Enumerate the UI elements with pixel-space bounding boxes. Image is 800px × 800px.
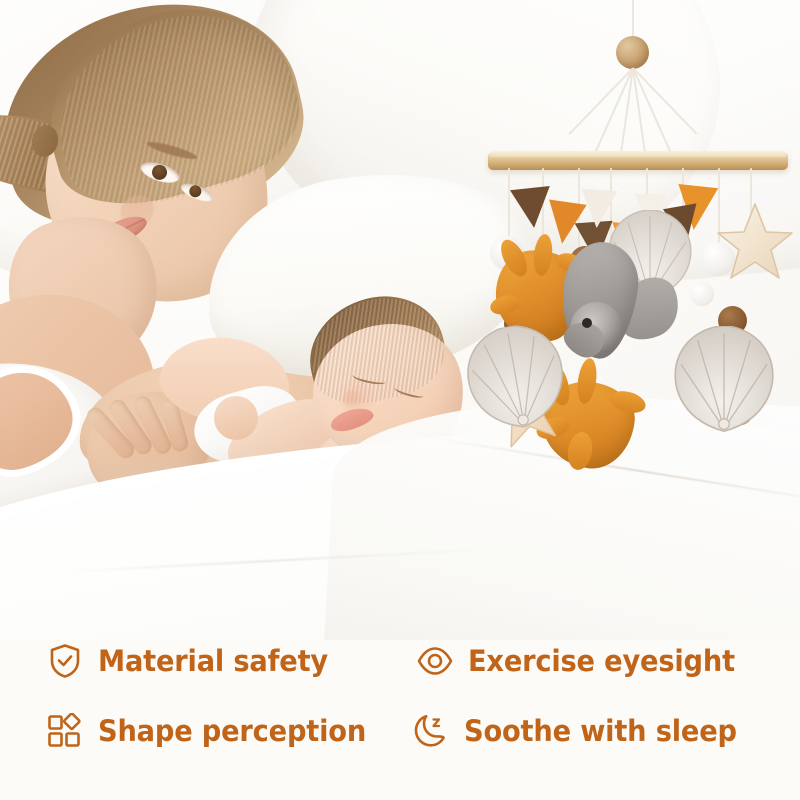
shapes-icon <box>46 712 84 750</box>
mobile-hoop-highlight <box>490 151 786 157</box>
felt-shell <box>666 326 782 436</box>
baby-nose <box>342 390 364 410</box>
feature-exercise-eyesight[interactable]: Exercise eyesight <box>416 642 752 680</box>
baby-mobile <box>450 10 800 480</box>
feature-label: Shape perception <box>98 717 366 746</box>
mobile-top-cord <box>632 0 634 40</box>
mobile-suspension-cord <box>632 67 697 134</box>
feature-list: Material safety Exercise eyesight <box>0 628 800 800</box>
product-image-canvas: Material safety Exercise eyesight <box>0 0 800 800</box>
felt-whale <box>562 242 666 362</box>
baby-left-fist <box>214 396 258 440</box>
shield-check-icon <box>46 642 84 680</box>
feature-label: Material safety <box>98 647 328 676</box>
eye-icon <box>416 642 454 680</box>
moon-sleep-icon <box>412 712 450 750</box>
mother-iris <box>150 163 169 182</box>
feature-soothe-with-sleep[interactable]: Soothe with sleep <box>412 712 754 750</box>
feature-label: Exercise eyesight <box>468 647 735 676</box>
feature-label: Soothe with sleep <box>464 717 737 746</box>
mobile-hanger-ball <box>616 36 649 69</box>
feature-material-safety[interactable]: Material safety <box>46 642 343 680</box>
hero-photo <box>0 0 800 640</box>
whale-eye <box>582 318 592 328</box>
feature-shape-perception[interactable]: Shape perception <box>46 712 383 750</box>
felt-starfish <box>716 202 794 282</box>
